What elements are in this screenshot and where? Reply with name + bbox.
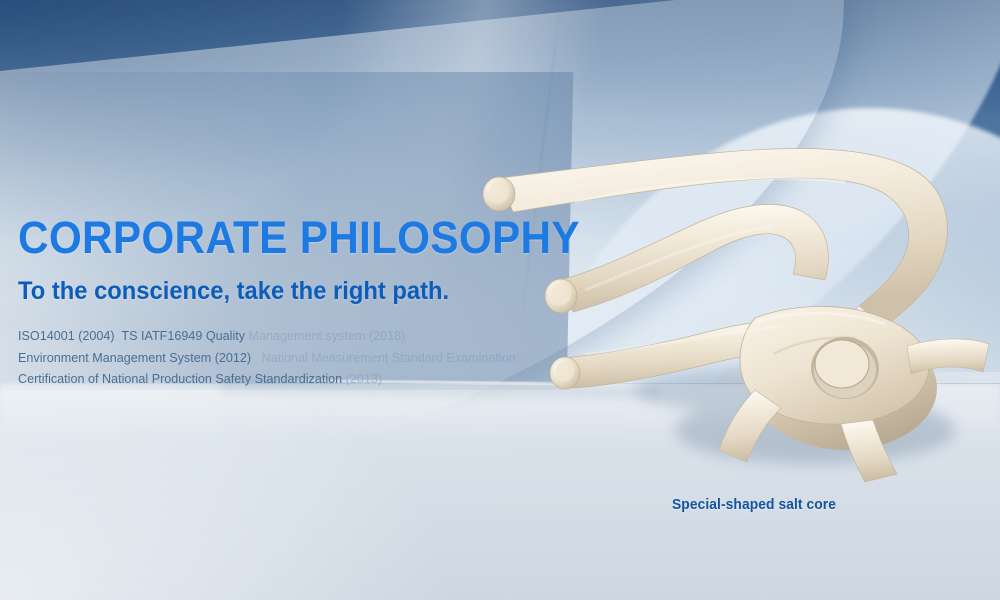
certification-list: ISO14001 (2004) TS IATF16949 Quality Man…	[18, 326, 578, 391]
certification-lead: Certification of National Production Saf…	[18, 372, 346, 386]
certification-mid: Management system	[249, 329, 369, 343]
certification-tail: Standard Examination	[392, 351, 516, 365]
banner-text-block: CORPORATE PHILOSOPHY To the conscience, …	[18, 212, 578, 391]
corporate-philosophy-banner: CORPORATE PHILOSOPHY To the conscience, …	[0, 0, 1000, 600]
certification-item: Environment Management System (2012) Nat…	[18, 348, 578, 370]
certification-tail: (2013)	[346, 372, 382, 386]
certification-item: Certification of National Production Saf…	[18, 369, 578, 391]
page-title: CORPORATE PHILOSOPHY	[18, 212, 544, 264]
certification-mid: National Measurement	[251, 351, 392, 365]
core-center-bore	[811, 337, 879, 399]
page-subtitle: To the conscience, take the right path.	[18, 276, 550, 306]
certification-lead: ISO14001 (2004) TS IATF16949 Quality	[18, 329, 249, 343]
product-caption: Special-shaped salt core	[672, 496, 836, 513]
certification-item: ISO14001 (2004) TS IATF16949 Quality Man…	[18, 326, 578, 348]
core-arm-middle	[560, 204, 828, 312]
vignette-top-left	[0, 0, 400, 240]
core-spoke-right	[907, 339, 989, 374]
certification-lead: Environment Management System (2012)	[18, 351, 251, 365]
certification-tail: (2018)	[369, 329, 405, 343]
